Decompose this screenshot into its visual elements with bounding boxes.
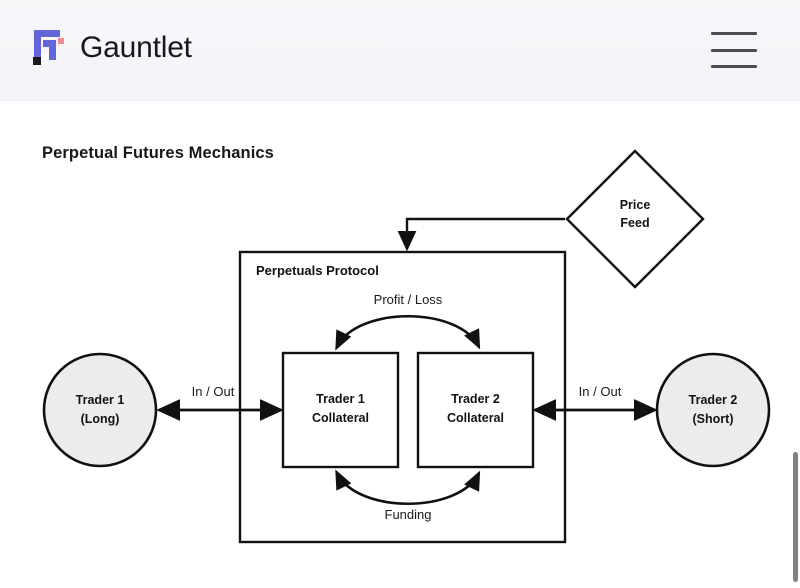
trader2-label-line2: (Short) (693, 412, 734, 426)
gauntlet-g-logo-icon (30, 28, 66, 68)
profit-loss-label: Profit / Loss (374, 292, 443, 307)
node-price-feed[interactable]: Price Feed (567, 151, 703, 287)
trader1-label-line2: (Long) (81, 412, 120, 426)
trader2-collateral-label-line1: Trader 2 (451, 392, 500, 406)
trader2-collateral-label-line2: Collateral (447, 411, 504, 425)
perpetual-futures-diagram: Price Feed Perpetuals Protocol Trader 1 … (7, 101, 793, 588)
protocol-label: Perpetuals Protocol (256, 263, 379, 278)
trader1-collateral-label-line2: Collateral (312, 411, 369, 425)
price-feed-label-line2: Feed (620, 216, 649, 230)
vertical-scrollbar[interactable] (792, 0, 800, 588)
site-header: Gauntlet (0, 0, 800, 101)
trader1-collateral-label-line1: Trader 1 (316, 392, 365, 406)
slide-content: Perpetual Futures Mechanics (7, 101, 793, 588)
brand-logo-link[interactable]: Gauntlet (30, 28, 192, 68)
funding-label: Funding (385, 507, 432, 522)
trader2-collateral-shape (418, 353, 533, 467)
trader2-circle-shape (657, 354, 769, 466)
node-trader1-collateral[interactable]: Trader 1 Collateral (283, 353, 398, 467)
scrollbar-thumb[interactable] (793, 452, 798, 582)
price-feed-label-line1: Price (620, 198, 651, 212)
price-feed-arrow-path (407, 219, 565, 249)
trader2-label-line1: Trader 2 (689, 393, 738, 407)
edge-price-feed-to-protocol (407, 219, 565, 249)
node-trader2-collateral[interactable]: Trader 2 Collateral (418, 353, 533, 467)
trader1-label-line1: Trader 1 (76, 393, 125, 407)
node-trader2-short[interactable]: Trader 2 (Short) (657, 354, 769, 466)
hamburger-line-2 (711, 49, 757, 52)
right-in-out-label: In / Out (579, 384, 622, 399)
trader1-collateral-shape (283, 353, 398, 467)
node-trader1-long[interactable]: Trader 1 (Long) (44, 354, 156, 466)
trader1-circle-shape (44, 354, 156, 466)
brand-name: Gauntlet (80, 33, 192, 63)
app-window: Gauntlet Perpetual Futures Mechanics (0, 0, 800, 588)
hamburger-line-1 (711, 32, 757, 35)
hamburger-menu-icon[interactable] (711, 32, 757, 68)
left-in-out-label: In / Out (192, 384, 235, 399)
hamburger-line-3 (711, 65, 757, 68)
